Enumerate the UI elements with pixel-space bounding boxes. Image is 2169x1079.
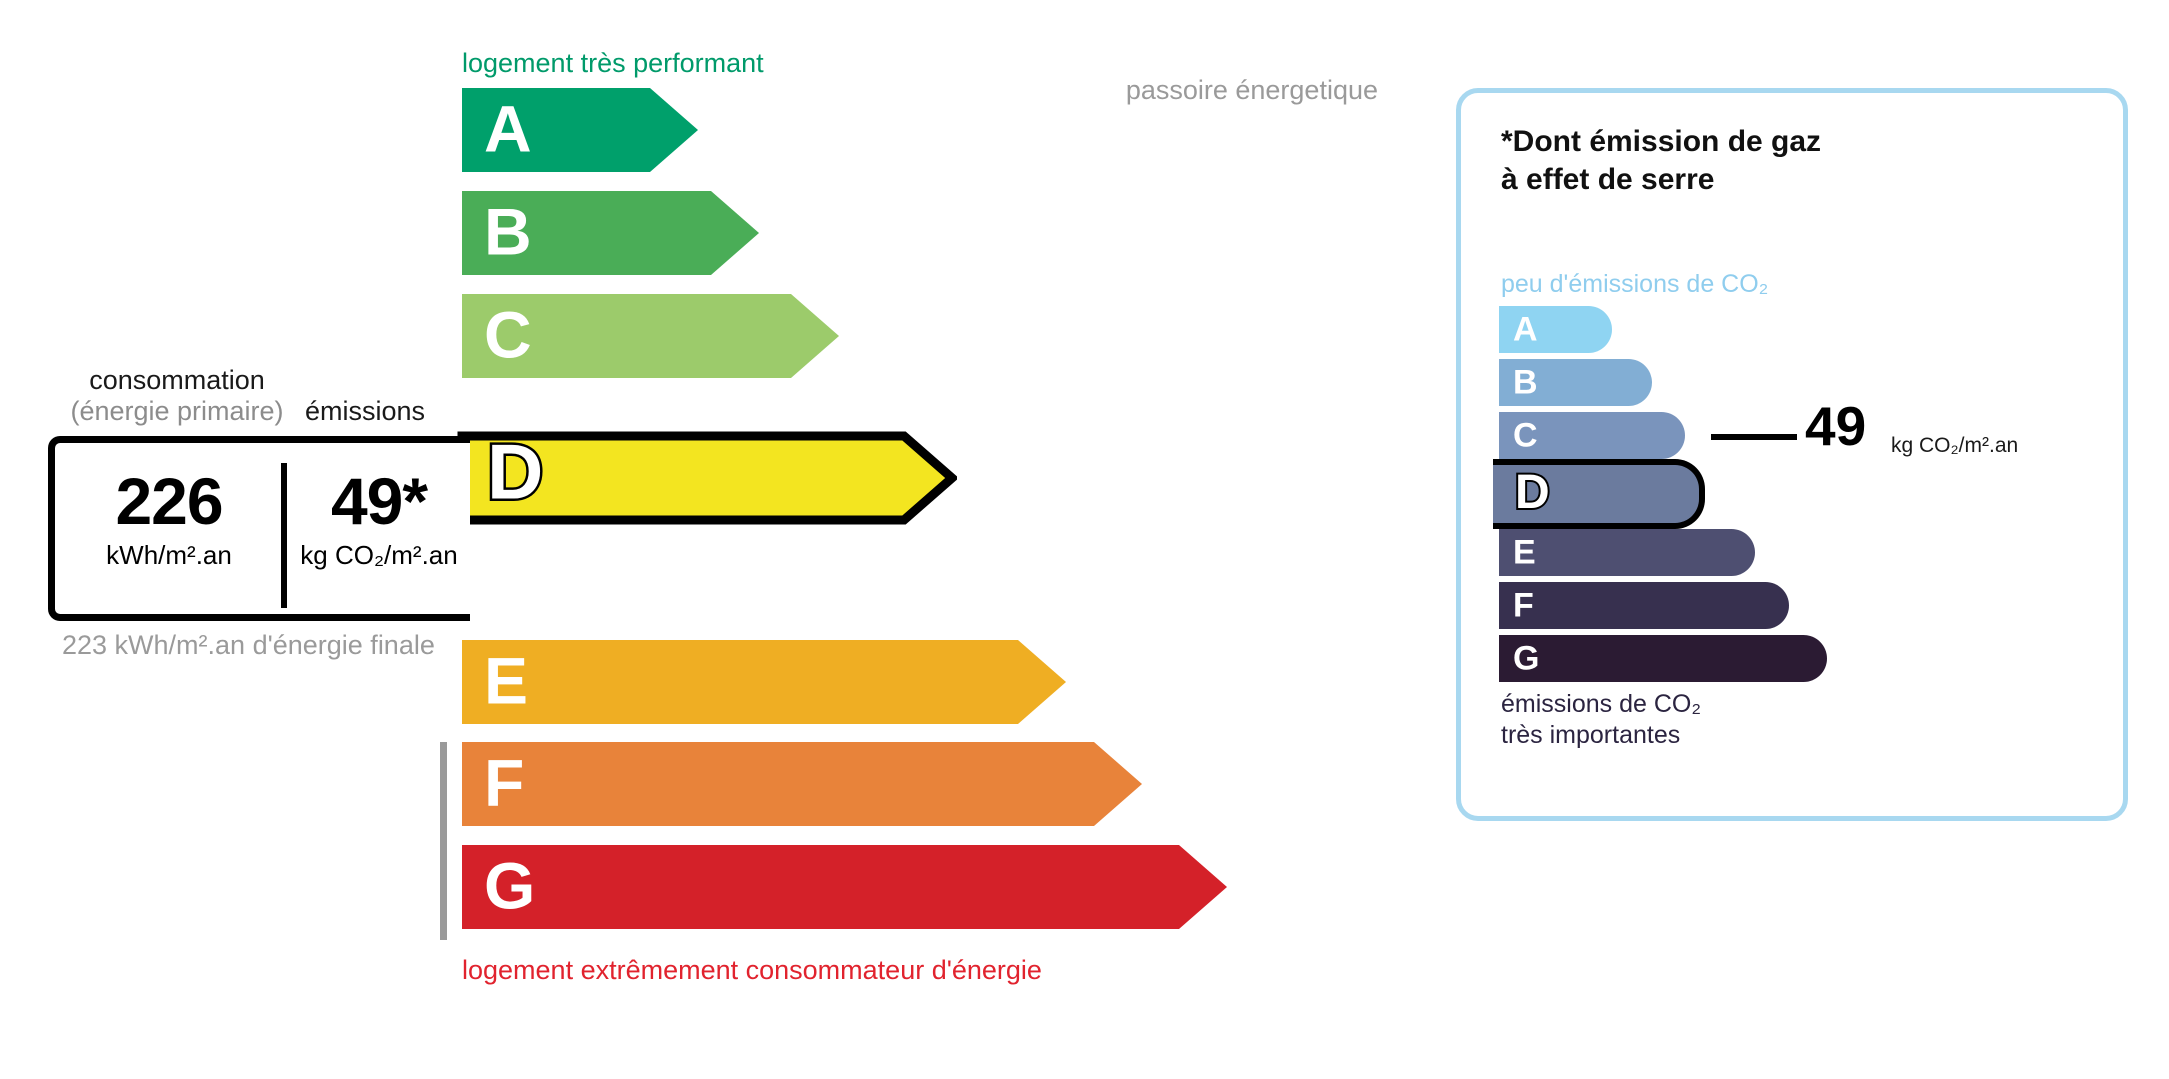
energy-arrow-shape-e <box>462 640 1066 724</box>
energy-arrow-f: F <box>462 742 1142 826</box>
co2-bar-b: B <box>1499 359 1652 406</box>
co2-bar-f: F <box>1499 582 1789 629</box>
co2-class-row-f: F <box>1499 582 1789 629</box>
emission-value: 49* <box>291 465 467 539</box>
co2-bar-c: C <box>1499 412 1685 459</box>
value-box: 226 kWh/m².an 49* kg CO₂/m².an <box>48 436 470 621</box>
consumption-label-sub: (énergie primaire) <box>62 396 292 427</box>
co2-bar-a: A <box>1499 306 1612 353</box>
co2-class-letter-e: E <box>1513 535 1536 569</box>
emission-value-cell: 49* kg CO₂/m².an <box>291 465 467 570</box>
emission-unit: kg CO₂/m².an <box>291 541 467 570</box>
co2-bar-g: G <box>1499 635 1827 682</box>
co2-top-caption: peu d'émissions de CO₂ <box>1501 270 1768 299</box>
passoire-marker-bar <box>440 742 447 940</box>
passoire-label: passoire énergetique <box>1126 74 1378 108</box>
co2-emissions-panel: *Dont émission de gaz à effet de serre p… <box>1456 88 2128 821</box>
consumption-value-cell: 226 kWh/m².an <box>63 465 275 570</box>
co2-value-unit: kg CO₂/m².an <box>1891 434 2018 458</box>
co2-class-row-c: C <box>1499 412 1685 459</box>
energy-class-row-e: E <box>462 640 1066 724</box>
energy-arrow-shape-g <box>462 845 1227 929</box>
energy-class-row-d: D <box>457 431 947 515</box>
co2-bottom-caption: émissions de CO₂ très importantes <box>1501 689 1701 750</box>
energy-arrow-shape-a <box>462 88 698 172</box>
co2-class-letter-d: D <box>1515 469 1550 517</box>
energy-arrow-c: C <box>462 294 839 378</box>
energy-arrow-shape-f <box>462 742 1142 826</box>
co2-class-row-e: E <box>1499 529 1755 576</box>
energy-class-row-f: F <box>462 742 1142 826</box>
co2-bar-d: D <box>1493 459 1705 529</box>
co2-bar-e: E <box>1499 529 1755 576</box>
consumption-label-main: consommation <box>89 365 265 395</box>
co2-class-letter-g: G <box>1513 641 1539 675</box>
co2-class-row-b: B <box>1499 359 1652 406</box>
co2-class-row-g: G <box>1499 635 1827 682</box>
co2-leader-line <box>1711 434 1797 440</box>
energy-arrow-shape-b <box>462 191 759 275</box>
co2-class-letter-c: C <box>1513 418 1538 452</box>
energy-class-row-c: C <box>462 294 839 378</box>
energy-bottom-caption: logement extrêmement consommateur d'éner… <box>462 955 1042 986</box>
consumption-label: consommation (énergie primaire) <box>62 365 292 427</box>
co2-class-letter-a: A <box>1513 312 1538 346</box>
co2-class-row-a: A <box>1499 306 1612 353</box>
energy-top-caption: logement très performant <box>462 48 764 79</box>
energy-arrow-e: E <box>462 640 1066 724</box>
energy-performance-panel: logement très performant ABCDEFG logemen… <box>0 0 1400 1079</box>
energy-class-row-a: A <box>462 88 698 172</box>
co2-class-letter-b: B <box>1513 365 1538 399</box>
energy-arrow-b: B <box>462 191 759 275</box>
energy-arrow-shape-d <box>457 431 957 525</box>
emissions-label: émissions <box>305 396 425 427</box>
co2-class-letter-f: F <box>1513 588 1534 622</box>
energy-class-row-g: G <box>462 845 1227 929</box>
consumption-unit: kWh/m².an <box>63 541 275 570</box>
energy-arrow-shape-c <box>462 294 839 378</box>
energy-arrow-a: A <box>462 88 698 172</box>
final-energy-label: 223 kWh/m².an d'énergie finale <box>62 628 435 663</box>
consumption-value: 226 <box>63 465 275 539</box>
energy-arrow-g: G <box>462 845 1227 929</box>
co2-panel-title: *Dont émission de gaz à effet de serre <box>1501 123 1821 199</box>
value-box-divider <box>281 463 287 608</box>
co2-value: 49 <box>1805 399 1866 454</box>
energy-class-row-b: B <box>462 191 759 275</box>
co2-class-row-d: D <box>1499 470 1711 517</box>
energy-arrow-d: D <box>457 431 947 515</box>
